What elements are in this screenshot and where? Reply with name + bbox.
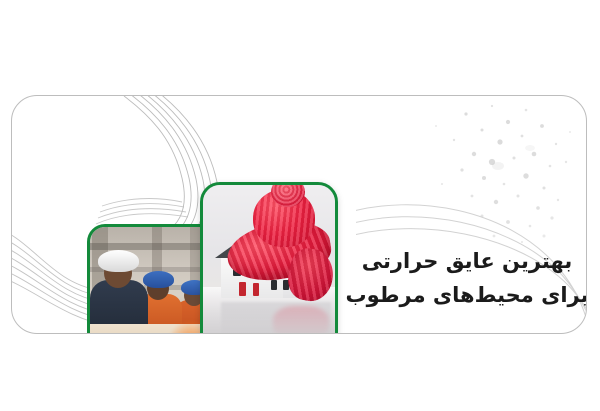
workers-photo[interactable] [87,224,218,334]
headline-line-2: برای محیط‌های مرطوب [342,278,587,312]
banner-stage: بهترین عایق حرارتی برای محیط‌های مرطوب [0,0,600,411]
headline-line-1: بهترین عایق حرارتی [342,244,587,278]
red-knit-hat [227,189,331,285]
worker-1-helmet [98,250,139,272]
workers-photo-inner [90,227,215,334]
worker-1 [90,244,154,334]
banner-card: بهترین عایق حرارتی برای محیط‌های مرطوب [11,95,587,334]
house-photo-inner [203,185,335,334]
headline: بهترین عایق حرارتی برای محیط‌های مرطوب [342,244,587,312]
insulated-house-photo[interactable] [200,182,338,334]
hat-reflection [273,306,329,334]
